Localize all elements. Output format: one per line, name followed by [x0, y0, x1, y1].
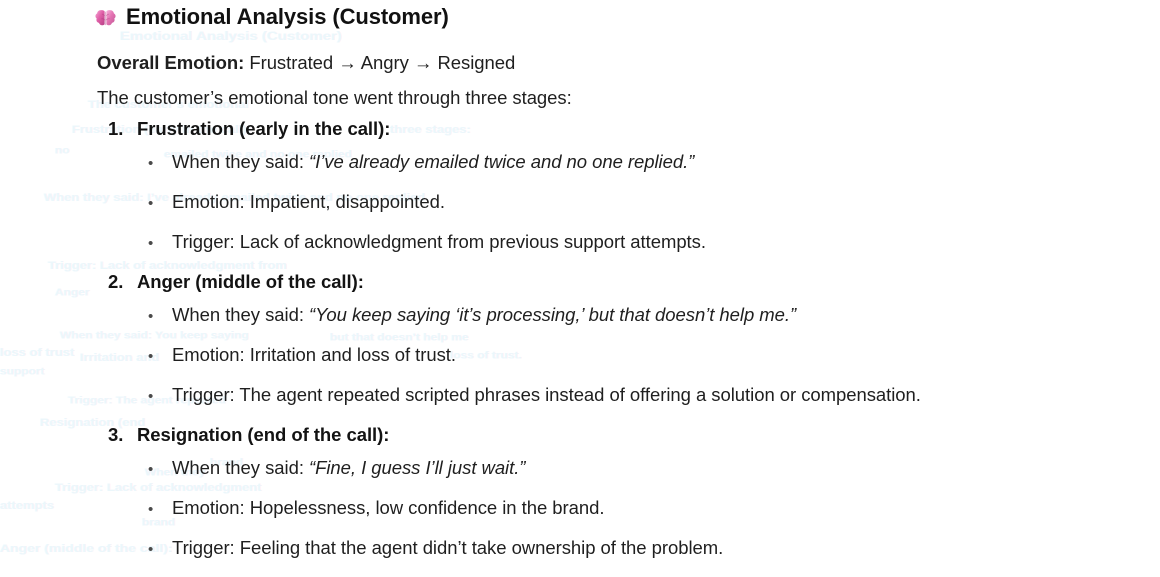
stage-title: Frustration (early in the call): [137, 118, 390, 140]
list-item: •When they said: “You keep saying ‘it’s … [0, 304, 1160, 344]
bullet-point-icon: • [148, 389, 172, 404]
page-title-text: Emotional Analysis (Customer) [126, 4, 449, 30]
page-title: Emotional Analysis (Customer) [94, 4, 449, 30]
list-item-text: Trigger: Feeling that the agent didn’t t… [172, 537, 723, 559]
stage-title: Anger (middle of the call): [137, 271, 364, 293]
list-item-text: Trigger: The agent repeated scripted phr… [172, 384, 921, 406]
customer-quote: “I’ve already emailed twice and no one r… [309, 151, 694, 172]
stage-number: 3. [108, 424, 137, 446]
stage-number: 1. [108, 118, 137, 140]
stage-heading: 2.Anger (middle of the call): [0, 271, 1160, 304]
bullet-point-icon: • [148, 196, 172, 211]
stage-title: Resignation (end of the call): [137, 424, 389, 446]
stage-bullet-list: •When they said: “I’ve already emailed t… [0, 151, 1160, 271]
stage-list: 1.Frustration (early in the call):•When … [0, 118, 1160, 577]
list-item: •Emotion: Hopelessness, low confidence i… [0, 497, 1160, 537]
bullet-point-icon: • [148, 542, 172, 557]
list-item: •Emotion: Irritation and loss of trust. [0, 344, 1160, 384]
list-item-text: When they said: “I’ve already emailed tw… [172, 151, 694, 173]
stage-item: 2.Anger (middle of the call):•When they … [0, 271, 1160, 424]
customer-quote: “You keep saying ‘it’s processing,’ but … [309, 304, 796, 325]
bullet-point-icon: • [148, 236, 172, 251]
bullet-point-icon: • [148, 462, 172, 477]
list-item: •Trigger: Lack of acknowledgment from pr… [0, 231, 1160, 271]
ghost-text-artifact: Emotional Analysis (Customer) [120, 30, 342, 44]
list-item-text: Emotion: Impatient, disappointed. [172, 191, 445, 213]
list-item-text: Emotion: Irritation and loss of trust. [172, 344, 456, 366]
bullet-point-icon: • [148, 349, 172, 364]
bullet-point-icon: • [148, 156, 172, 171]
overall-emotion-line: Overall Emotion: Frustrated → Angry → Re… [97, 52, 515, 74]
list-item: •Emotion: Impatient, disappointed. [0, 191, 1160, 231]
brain-icon [94, 7, 117, 30]
bullet-point-icon: • [148, 309, 172, 324]
stage-heading: 1.Frustration (early in the call): [0, 118, 1160, 151]
stage-item: 1.Frustration (early in the call):•When … [0, 118, 1160, 271]
intro-text: The customer’s emotional tone went throu… [97, 87, 572, 109]
overall-emotion-label: Overall Emotion: [97, 52, 244, 73]
list-item: •When they said: “Fine, I guess I’ll jus… [0, 457, 1160, 497]
list-item: •Trigger: Feeling that the agent didn’t … [0, 537, 1160, 577]
list-item-text: When they said: “Fine, I guess I’ll just… [172, 457, 525, 479]
list-item: •When they said: “I’ve already emailed t… [0, 151, 1160, 191]
customer-quote: “Fine, I guess I’ll just wait.” [309, 457, 525, 478]
list-item-text: When they said: “You keep saying ‘it’s p… [172, 304, 796, 326]
stage-number: 2. [108, 271, 137, 293]
stage-bullet-list: •When they said: “You keep saying ‘it’s … [0, 304, 1160, 424]
list-item-text: Emotion: Hopelessness, low confidence in… [172, 497, 604, 519]
overall-emotion-value: Frustrated → Angry → Resigned [249, 52, 515, 73]
stage-bullet-list: •When they said: “Fine, I guess I’ll jus… [0, 457, 1160, 577]
stage-item: 3.Resignation (end of the call):•When th… [0, 424, 1160, 577]
list-item-text: Trigger: Lack of acknowledgment from pre… [172, 231, 706, 253]
stage-heading: 3.Resignation (end of the call): [0, 424, 1160, 457]
list-item: •Trigger: The agent repeated scripted ph… [0, 384, 1160, 424]
bullet-point-icon: • [148, 502, 172, 517]
